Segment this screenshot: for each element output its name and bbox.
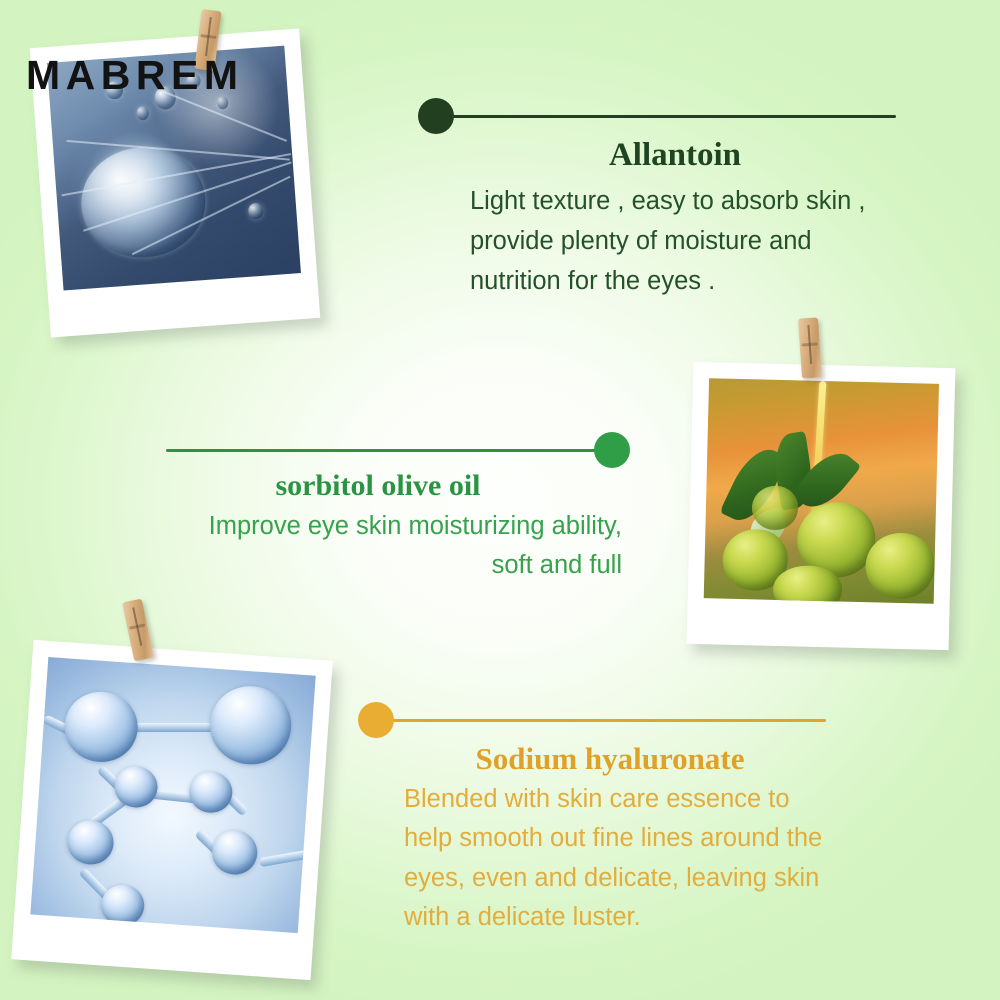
- accent-rule-row: [166, 430, 630, 470]
- ingredient-description: Improve eye skin moisturizing ability, s…: [166, 507, 622, 587]
- accent-rule: [166, 449, 598, 452]
- atom-sphere: [208, 684, 294, 767]
- droplet-shape: [77, 143, 208, 261]
- ingredient-infographic: MABREM Allantoin Light texture , easy to…: [0, 0, 1000, 1000]
- brand-logo: MABREM: [26, 55, 243, 96]
- ingredient-title: Allantoin: [454, 138, 896, 173]
- ingredient-description: Blended with skin care essence to help s…: [404, 780, 826, 938]
- molecule-photo: [11, 640, 333, 980]
- accent-dot: [594, 432, 630, 468]
- atom-sphere: [63, 689, 140, 764]
- atom-sphere: [100, 883, 146, 927]
- droplet-shape: [248, 203, 263, 220]
- ingredient-block-sodium-hyaluronate: Sodium hyaluronate Blended with skin car…: [358, 700, 826, 938]
- olive-shape: [751, 485, 798, 530]
- atom-sphere: [66, 819, 114, 866]
- accent-rule-row: [358, 700, 826, 740]
- accent-dot: [418, 98, 454, 134]
- accent-rule: [390, 719, 826, 722]
- ingredient-block-sorbitol-olive-oil: sorbitol olive oil Improve eye skin mois…: [166, 430, 630, 586]
- droplet-shape: [136, 106, 149, 121]
- accent-rule: [450, 115, 896, 118]
- ingredient-block-allantoin: Allantoin Light texture , easy to absorb…: [418, 96, 896, 301]
- clothespin-icon: [798, 317, 822, 378]
- atom-sphere: [188, 770, 234, 814]
- ingredient-description: Light texture , easy to absorb skin , pr…: [470, 181, 896, 302]
- ingredient-title: sorbitol olive oil: [166, 470, 590, 502]
- olive-shape: [865, 532, 936, 600]
- atom-sphere: [211, 829, 259, 876]
- accent-rule-row: [418, 96, 896, 136]
- accent-dot: [358, 702, 394, 738]
- olive-oil-photo: [687, 362, 956, 650]
- olive-oil-image: [704, 378, 939, 604]
- molecular-bond: [259, 850, 308, 867]
- molecule-image: [30, 657, 315, 933]
- ingredient-title: Sodium hyaluronate: [394, 743, 826, 776]
